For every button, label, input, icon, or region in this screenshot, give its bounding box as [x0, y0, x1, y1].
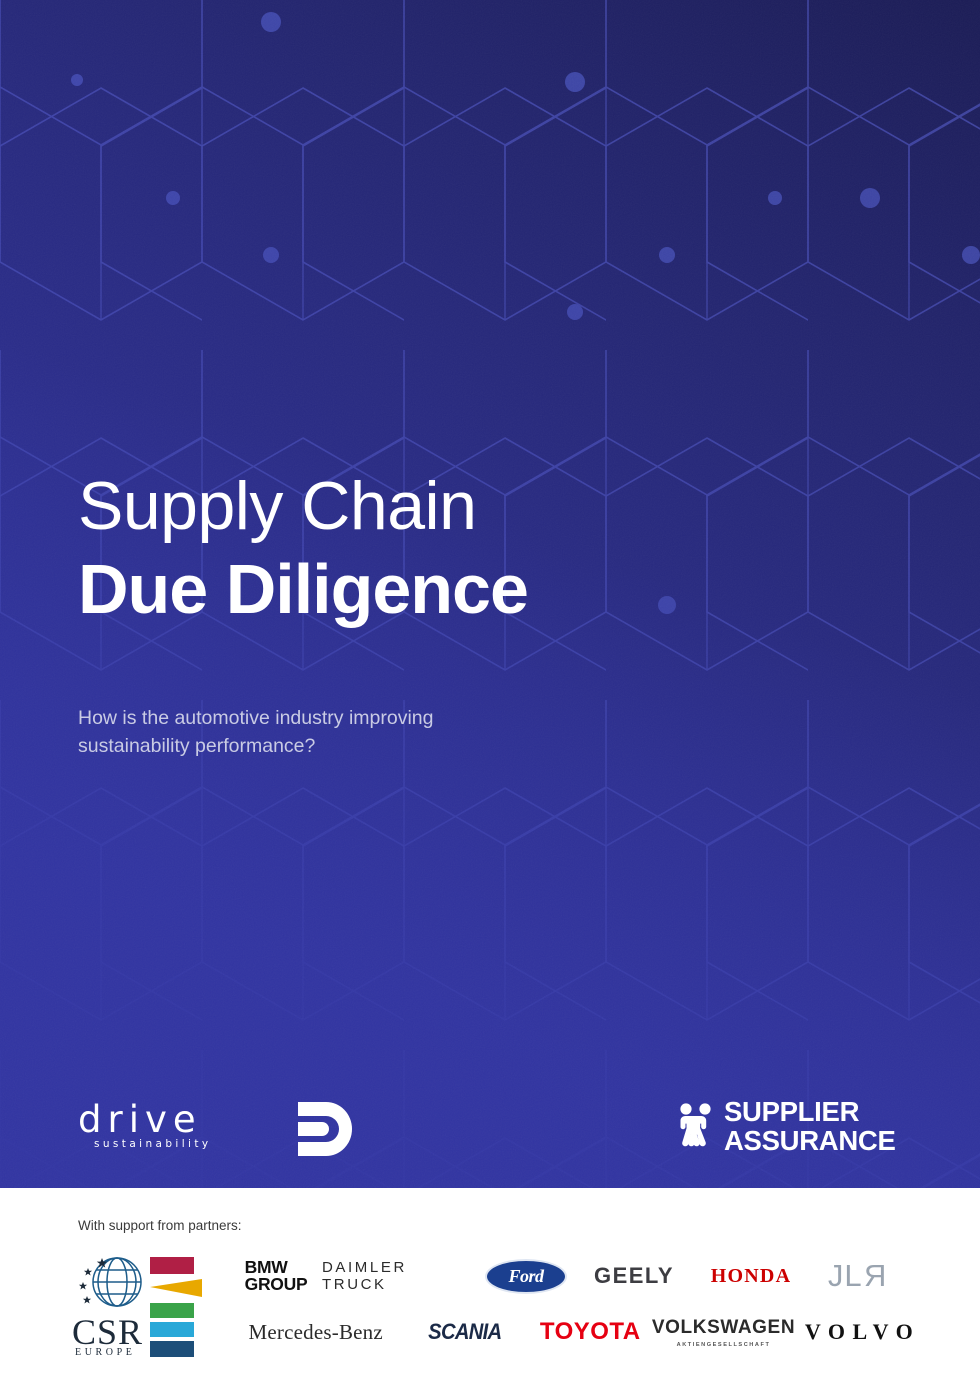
- jlr-wordmark: JLR: [828, 1258, 886, 1294]
- bmw-line-2: GROUP: [245, 1276, 308, 1293]
- partner-logo-mercedes-benz: Mercedes-Benz: [230, 1306, 401, 1358]
- globe-with-stars-icon: [74, 1255, 146, 1313]
- partner-logo-honda: HONDA: [690, 1250, 812, 1302]
- volkswagen-subtitle: AKTIENGESELLSCHAFT: [677, 1342, 771, 1348]
- scania-wordmark: SCANIA: [428, 1319, 501, 1345]
- partner-logo-volvo: VOLVO: [795, 1306, 930, 1358]
- drive-tagline: sustainability: [94, 1138, 212, 1150]
- partner-logo-daimler-truck: DAIMLER TRUCK: [322, 1250, 474, 1302]
- drive-d-mark-icon: [296, 1100, 352, 1158]
- csr-europe-word: EUROPE: [75, 1347, 136, 1358]
- volkswagen-wordmark: VOLKSWAGEN: [652, 1317, 795, 1339]
- page-subtitle: How is the automotive industry improving…: [78, 705, 548, 760]
- partners-label: With support from partners:: [78, 1218, 242, 1233]
- logo-row-1: BMW GROUP DAIMLER TRUCK Ford GEELY: [230, 1250, 930, 1302]
- supplier-assurance-logo: SUPPLIER ASSURANCE: [672, 1098, 902, 1160]
- partner-logo-ford: Ford: [474, 1250, 578, 1302]
- partner-logo-jlr: JLR: [812, 1250, 902, 1302]
- drive-sustainability-logo: drive sustainability: [78, 1098, 283, 1160]
- title-line-2: Due Diligence: [78, 554, 838, 624]
- honda-wordmark: HONDA: [711, 1265, 791, 1288]
- cover-page: Supply Chain Due Diligence How is the au…: [0, 0, 980, 1385]
- page-title: Supply Chain Due Diligence: [78, 472, 838, 624]
- drive-wordmark: drive: [78, 1098, 202, 1141]
- mercedes-benz-wordmark: Mercedes-Benz: [249, 1320, 383, 1345]
- partner-logo-scania: SCANIA: [401, 1306, 528, 1358]
- partner-logo-geely: GEELY: [578, 1250, 690, 1302]
- logo-row-2: Mercedes-Benz SCANIA TOYOTA VOLKSWAGEN A…: [230, 1306, 930, 1358]
- automaker-logo-grid: BMW GROUP DAIMLER TRUCK Ford GEELY: [230, 1250, 930, 1358]
- two-people-crossed-icon: [672, 1101, 720, 1153]
- volvo-wordmark: VOLVO: [805, 1319, 920, 1345]
- partner-logo-toyota: TOYOTA: [529, 1306, 652, 1358]
- supplier-assurance-line-2: ASSURANCE: [724, 1126, 896, 1155]
- partner-logos-area: CSR EUROPE BMW GROUP: [70, 1250, 920, 1365]
- supplier-assurance-line-1: SUPPLIER: [724, 1097, 896, 1126]
- geely-wordmark: GEELY: [594, 1263, 674, 1289]
- csr-color-bars-icon: [150, 1257, 202, 1359]
- hero-section: Supply Chain Due Diligence How is the au…: [0, 0, 980, 1188]
- daimler-truck-wordmark: DAIMLER TRUCK: [322, 1259, 474, 1293]
- toyota-wordmark: TOYOTA: [540, 1318, 641, 1346]
- ford-wordmark: Ford: [508, 1266, 543, 1287]
- partner-logo-volkswagen: VOLKSWAGEN AKTIENGESELLSCHAFT: [652, 1306, 795, 1358]
- ford-oval-icon: Ford: [485, 1259, 567, 1294]
- partner-logo-bmw: BMW GROUP: [230, 1250, 322, 1302]
- title-line-1: Supply Chain: [78, 472, 838, 540]
- partners-section: With support from partners:: [0, 1188, 980, 1385]
- csr-europe-logo: CSR EUROPE: [70, 1255, 202, 1360]
